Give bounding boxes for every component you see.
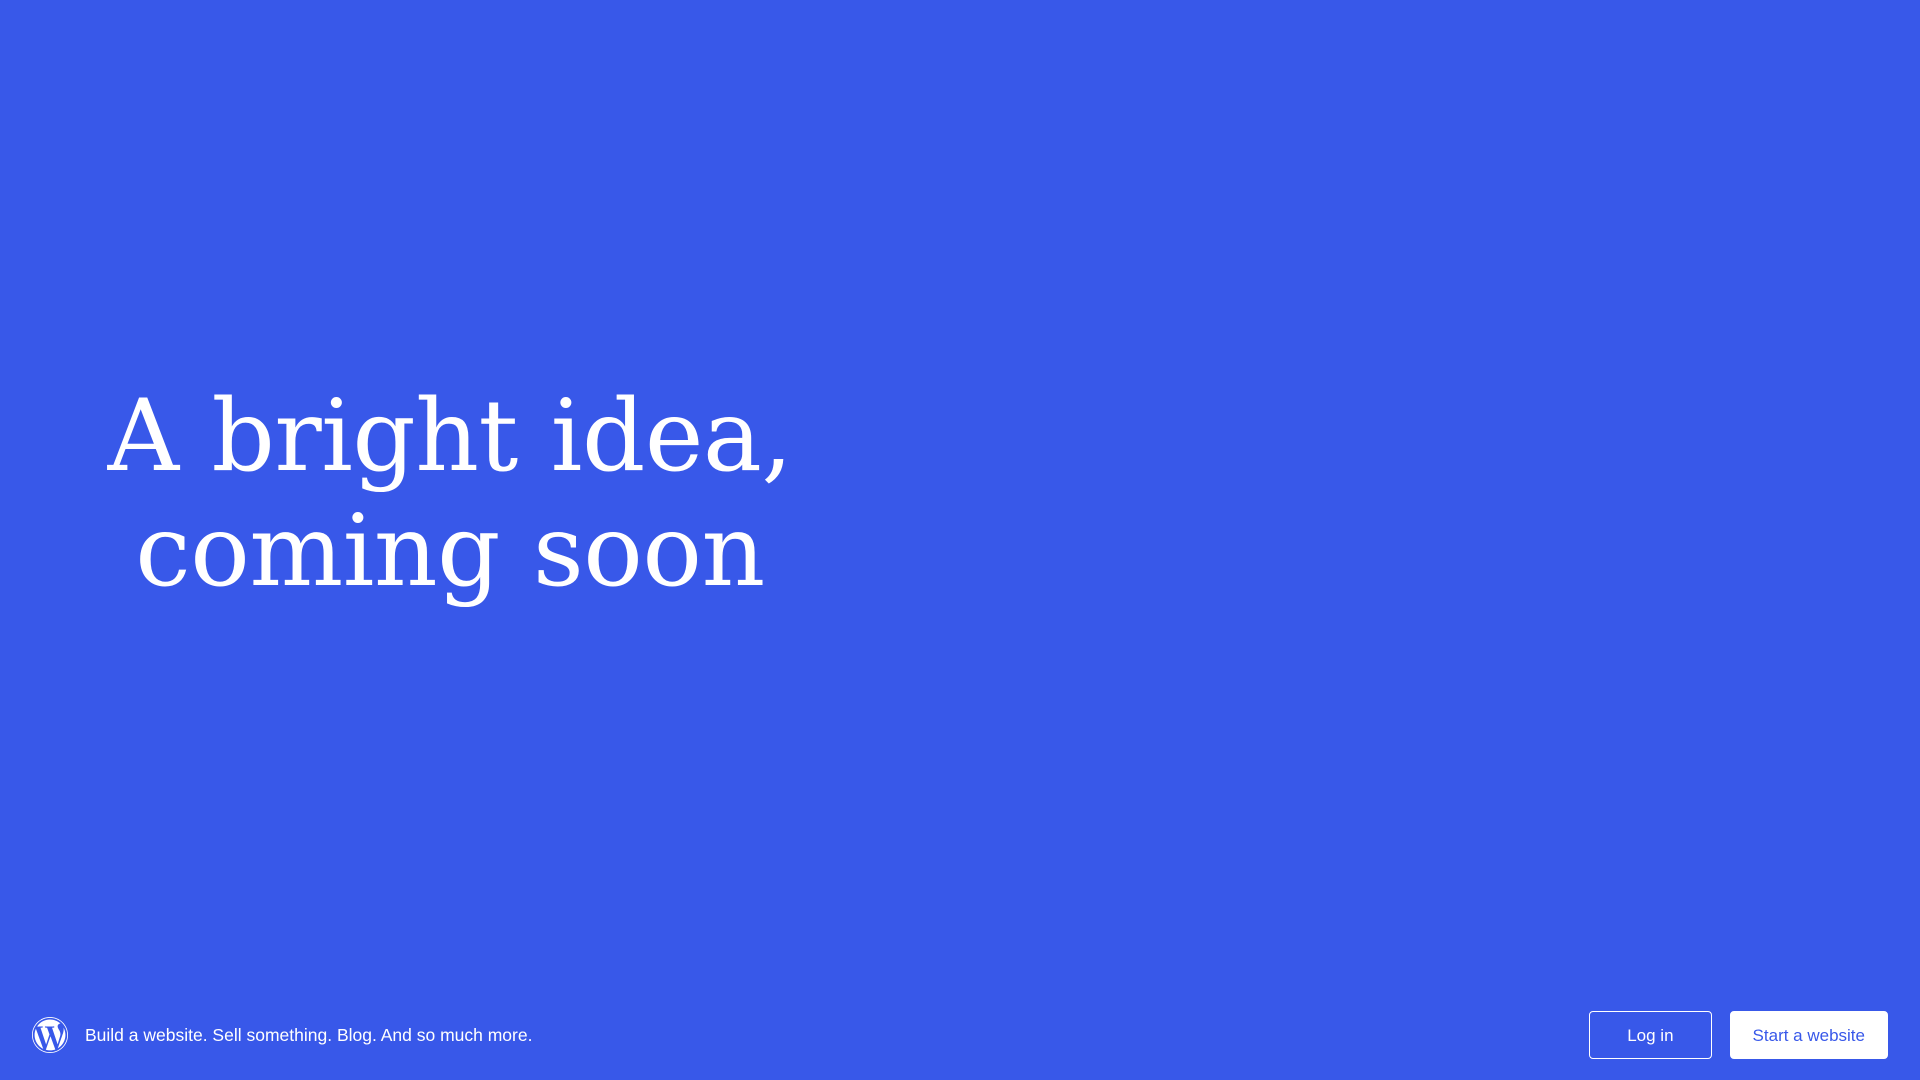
footer-actions: Log in Start a website	[1589, 1011, 1888, 1059]
headline-line-1: A bright idea,	[100, 380, 800, 495]
hero-section: A bright idea, coming soon	[0, 0, 1920, 990]
footer-tagline: Build a website. Sell something. Blog. A…	[85, 1025, 532, 1046]
headline-line-2: coming soon	[100, 495, 800, 610]
log-in-button[interactable]: Log in	[1589, 1011, 1711, 1059]
footer-branding: Build a website. Sell something. Blog. A…	[32, 1017, 532, 1053]
wordpress-logo-icon	[32, 1017, 68, 1053]
footer-bar: Build a website. Sell something. Blog. A…	[0, 990, 1920, 1080]
coming-soon-page: A bright idea, coming soon Build a webs	[0, 0, 1920, 1080]
hero-content: A bright idea, coming soon	[0, 380, 860, 610]
page-title: A bright idea, coming soon	[100, 380, 800, 610]
start-a-website-button[interactable]: Start a website	[1730, 1011, 1888, 1059]
